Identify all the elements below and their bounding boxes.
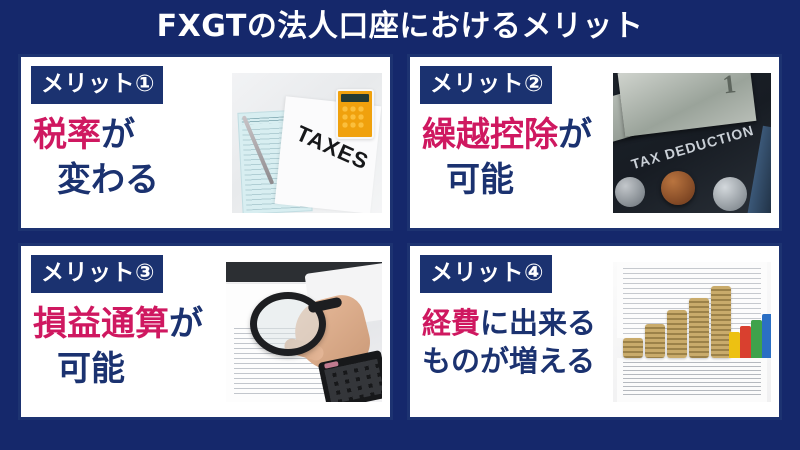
coin-stacks-file-tabs-photo [613,262,771,402]
benefit-headline-2-line2: 可能 [422,158,613,203]
benefit-badge-4: メリット④ [420,255,552,293]
benefit-headline-3-line2: 可能 [33,347,226,392]
benefit-headline-1-line2: 変わる [33,158,232,203]
benefit-photo-wrap-1: TAXES [232,57,390,228]
bill-denomination: 1 [721,73,738,100]
coin-stack-2 [645,324,665,358]
calculator-red-key [324,360,339,368]
benefit-headline-3-line1: 損益通算が [33,302,226,347]
coin-stack-4 [689,298,709,358]
benefit-headline-3-highlight: 損益通算 [33,304,169,344]
benefit-card-3-text: メリット③ 損益通算が 可能 [21,246,226,417]
page-title: FXGTの法人口座におけるメリット [157,12,644,42]
benefit-headline-4-line2: ものが増える [422,342,613,380]
receipt-sheet-bottom [617,358,767,402]
file-tab-green [751,320,762,358]
benefit-photo-wrap-4 [613,246,779,417]
orange-calculator-icon [336,89,374,139]
benefit-card-4-text: メリット④ 経費に出来る ものが増える [410,246,613,417]
coin-stack-3 [667,310,687,358]
benefit-card-2-text: メリット② 繰越控除が 可能 [410,57,613,228]
poster-header: FXGTの法人口座におけるメリット [0,0,800,54]
benefit-headline-1-highlight: 税率 [33,115,101,155]
benefit-headline-2-rest: が [558,115,592,155]
silver-coin-right [713,177,747,211]
benefit-card-1: メリット① 税率が 変わる TAXES [18,54,393,231]
benefit-headline-4-rest: に出来る [480,306,596,340]
benefit-headline-4: 経費に出来る ものが増える [420,304,613,381]
coin-stack-1 [623,338,643,358]
copper-penny-coin [661,171,695,205]
benefit-headline-3-rest: が [169,304,203,344]
benefit-headline-1-line1: 税率が [33,113,232,158]
benefit-headline-2-highlight: 繰越控除 [422,115,558,155]
poster-root: FXGTの法人口座におけるメリット メリット① 税率が 変わる TAXES [0,0,800,450]
tax-deduction-coins-photo: 1 TAX DEDUCTION [613,73,771,213]
benefit-headline-2: 繰越控除が 可能 [420,113,613,203]
benefit-headline-4-line1: 経費に出来る [422,304,613,342]
benefit-card-1-text: メリット① 税率が 変わる [21,57,232,228]
benefit-headline-1-rest: が [101,115,135,155]
benefit-headline-1: 税率が 変わる [31,113,232,203]
benefit-badge-3: メリット③ [31,255,163,293]
coin-stack-5 [711,286,731,358]
file-tab-red [740,326,751,358]
benefit-badge-2: メリット② [420,66,552,104]
benefits-grid: メリット① 税率が 変わる TAXES メリット② [0,54,800,420]
benefit-photo-wrap-2: 1 TAX DEDUCTION [613,57,779,228]
benefit-headline-2-line1: 繰越控除が [422,113,613,158]
tax-forms-calculator-photo: TAXES [232,73,382,213]
file-tab-blue [762,314,771,358]
benefit-photo-wrap-3 [226,246,390,417]
benefit-headline-4-highlight: 経費 [422,306,480,340]
benefit-card-4: メリット④ 経費に出来る ものが増える [407,243,782,420]
benefit-card-2: メリット② 繰越控除が 可能 1 TAX DEDUCTION [407,54,782,231]
benefit-badge-1: メリット① [31,66,163,104]
benefit-card-3: メリット③ 損益通算が 可能 [18,243,393,420]
magnifying-glass-documents-photo [226,262,382,402]
file-tab-yellow [729,332,740,358]
silver-coin-left [615,177,645,207]
benefit-headline-3: 損益通算が 可能 [31,302,226,392]
